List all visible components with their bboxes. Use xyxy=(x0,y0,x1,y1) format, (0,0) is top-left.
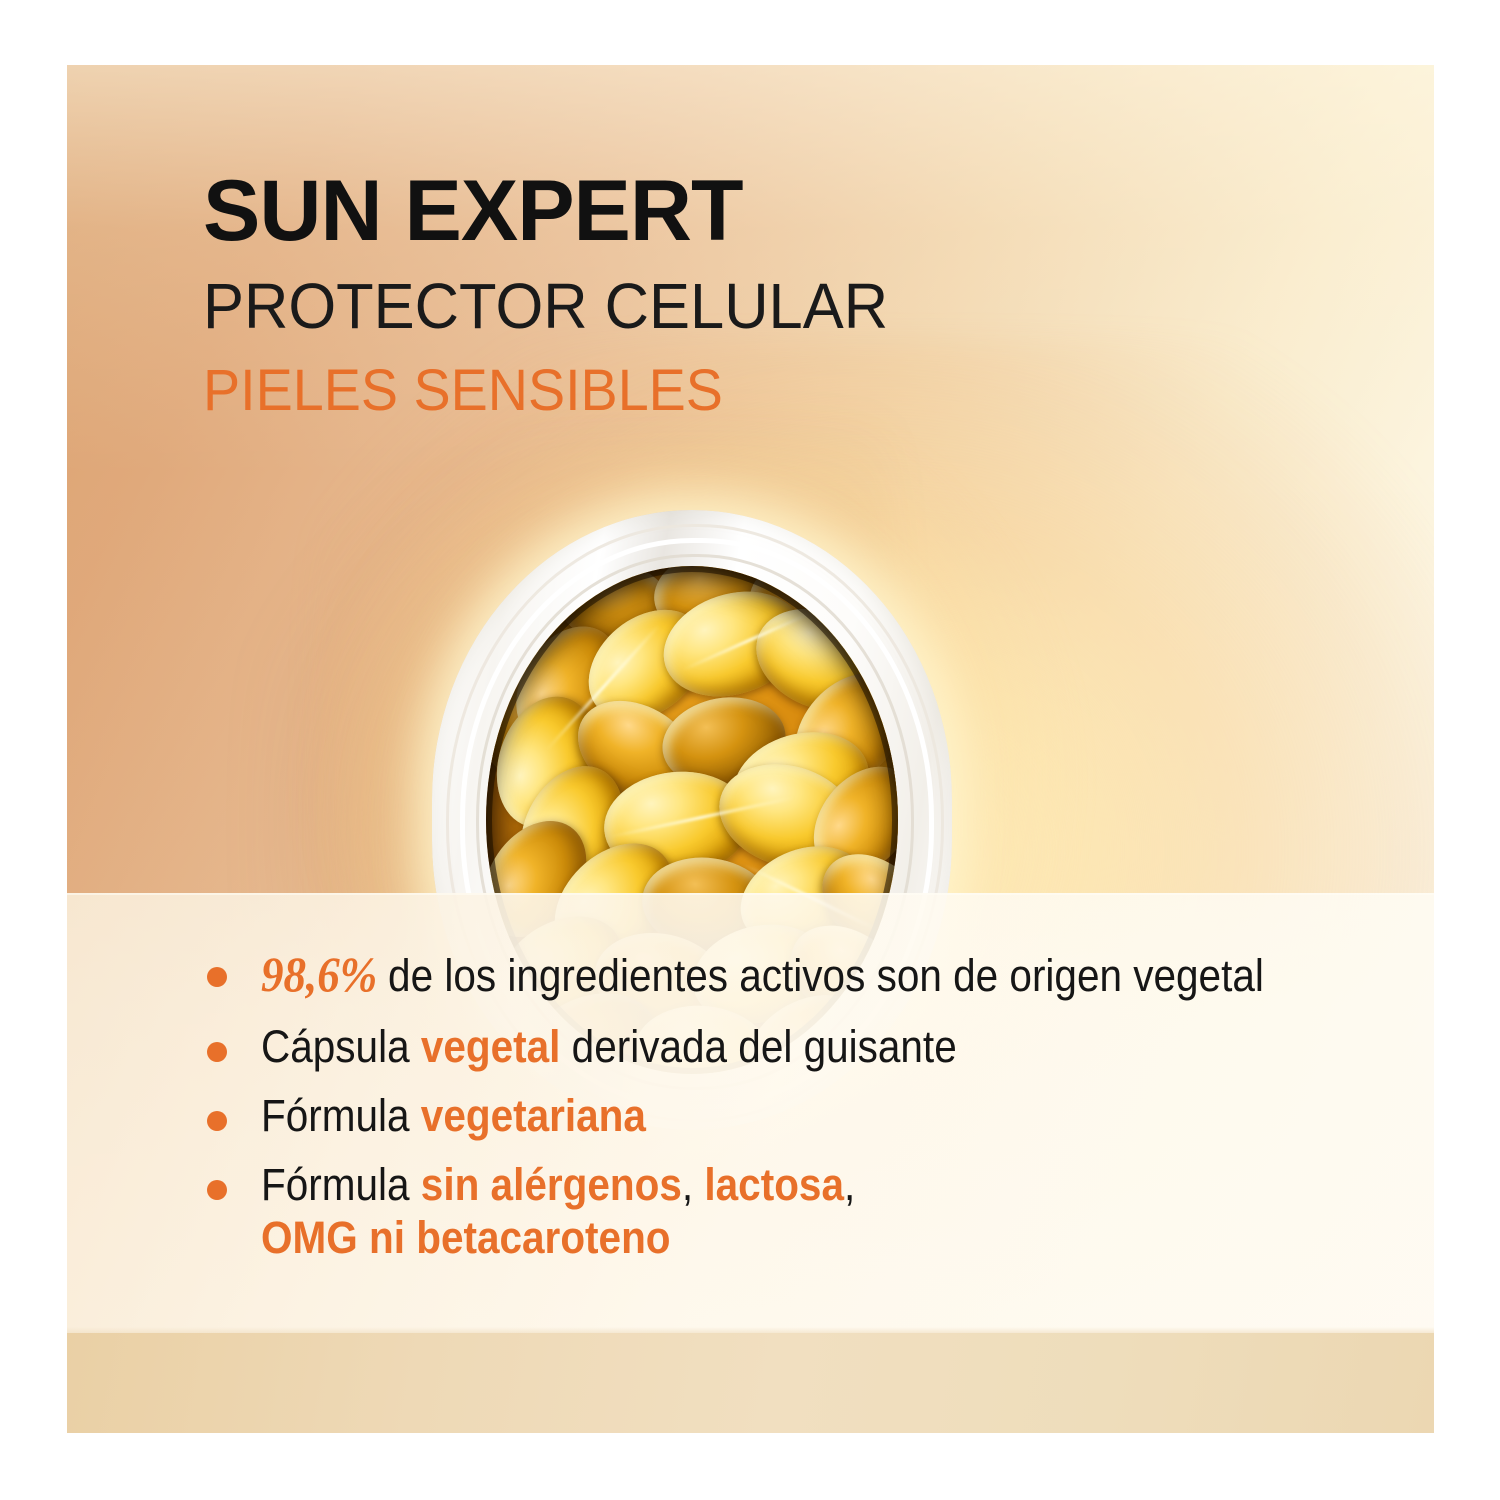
poster-canvas: SUN EXPERT PROTECTOR CELULAR PIELES SENS… xyxy=(0,0,1500,1500)
list-item: Cápsula vegetal derivada del guisante xyxy=(207,1020,1427,1073)
claim-text: Cápsula vegetal derivada del guisante xyxy=(261,1020,957,1073)
claim-prefix: Fórmula xyxy=(261,1159,421,1210)
claim-text: 98,6%de los ingredientes activos son de … xyxy=(261,945,1264,1004)
bullet-dot-icon xyxy=(207,1180,227,1200)
claim-highlight: vegetal xyxy=(421,1021,561,1072)
claim-suffix: derivada del guisante xyxy=(560,1021,956,1072)
claim-comma-2: , xyxy=(844,1159,855,1210)
claim-percent-rest: de los ingredientes activos son de orige… xyxy=(388,950,1264,1001)
claim-highlight-allergens: sin alérgenos xyxy=(421,1159,682,1210)
headline-block: SUN EXPERT PROTECTOR CELULAR PIELES SENS… xyxy=(203,168,917,420)
veil-seam-line xyxy=(67,893,1434,895)
brand-skin-type: PIELES SENSIBLES xyxy=(203,362,888,420)
bullet-dot-icon xyxy=(207,967,227,987)
claim-prefix: Cápsula xyxy=(261,1021,421,1072)
bullet-dot-icon xyxy=(207,1042,227,1062)
claim-text: Fórmula sin alérgenos, lactosa,OMG ni be… xyxy=(261,1158,963,1264)
claim-text: Fórmula vegetariana xyxy=(261,1089,646,1142)
claims-list: 98,6%de los ingredientes activos son de … xyxy=(207,945,1427,1280)
claim-percent-value: 98,6% xyxy=(261,946,388,1002)
list-item: Fórmula sin alérgenos, lactosa,OMG ni be… xyxy=(207,1158,1427,1264)
brand-title: SUN EXPERT xyxy=(203,168,917,254)
claim-comma-1: , xyxy=(682,1159,705,1210)
brand-subtitle: PROTECTOR CELULAR xyxy=(203,274,888,338)
list-item: Fórmula vegetariana xyxy=(207,1089,1427,1142)
claim-highlight: vegetariana xyxy=(421,1090,646,1141)
claim-highlight-lactose: lactosa xyxy=(704,1159,844,1210)
bottom-tan-band xyxy=(67,1333,1434,1433)
list-item: 98,6%de los ingredientes activos son de … xyxy=(207,945,1427,1004)
claim-highlight-gmo: OMG ni betacaroteno xyxy=(261,1212,671,1263)
claim-prefix: Fórmula xyxy=(261,1090,421,1141)
poster-content-area: SUN EXPERT PROTECTOR CELULAR PIELES SENS… xyxy=(67,65,1434,1433)
bullet-dot-icon xyxy=(207,1111,227,1131)
